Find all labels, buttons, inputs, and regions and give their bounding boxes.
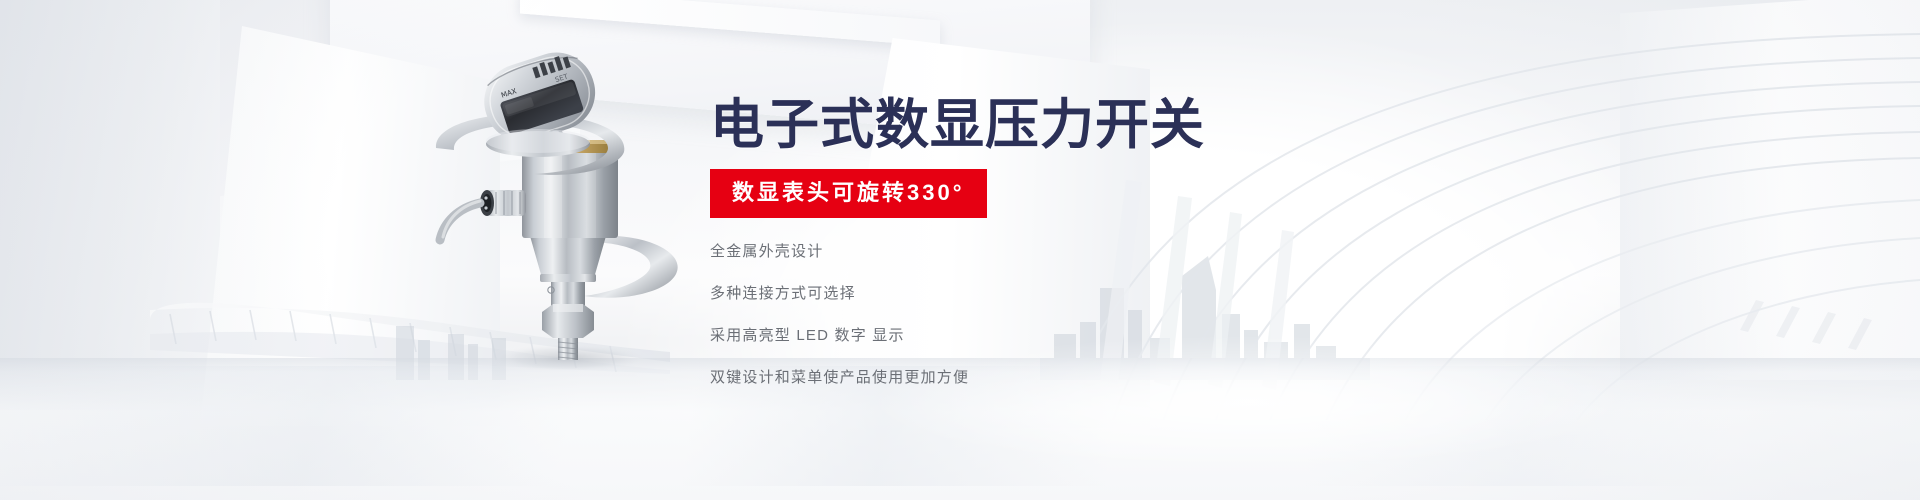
- tagline-badge: 数显表头可旋转330°: [710, 169, 987, 218]
- banner-copy: 电子式数显压力开关 数显表头可旋转330° 全金属外壳设计 多种连接方式可选择 …: [710, 95, 1470, 385]
- feature-list: 全金属外壳设计 多种连接方式可选择 采用高亮型 LED 数字 显示 双键设计和菜…: [710, 244, 1470, 385]
- adapter-collar: [540, 274, 596, 282]
- feature-item-1: 全金属外壳设计: [710, 244, 1470, 259]
- product-hero-banner: MAX MAX SET 电子式数显压力开关 数显表头可旋转330°: [0, 0, 1920, 500]
- product-image: MAX MAX SET: [418, 40, 718, 370]
- digital-pressure-switch-illustration: MAX MAX SET: [418, 40, 718, 370]
- feature-item-2: 多种连接方式可选择: [710, 286, 1470, 301]
- m12-connector: [480, 190, 526, 216]
- feature-item-3: 采用高亮型 LED 数字 显示: [710, 328, 1470, 343]
- feature-item-4: 双键设计和菜单使产品使用更加方便: [710, 370, 1470, 385]
- page-title: 电子式数显压力开关: [710, 95, 1470, 155]
- adapter-cone: [530, 236, 606, 278]
